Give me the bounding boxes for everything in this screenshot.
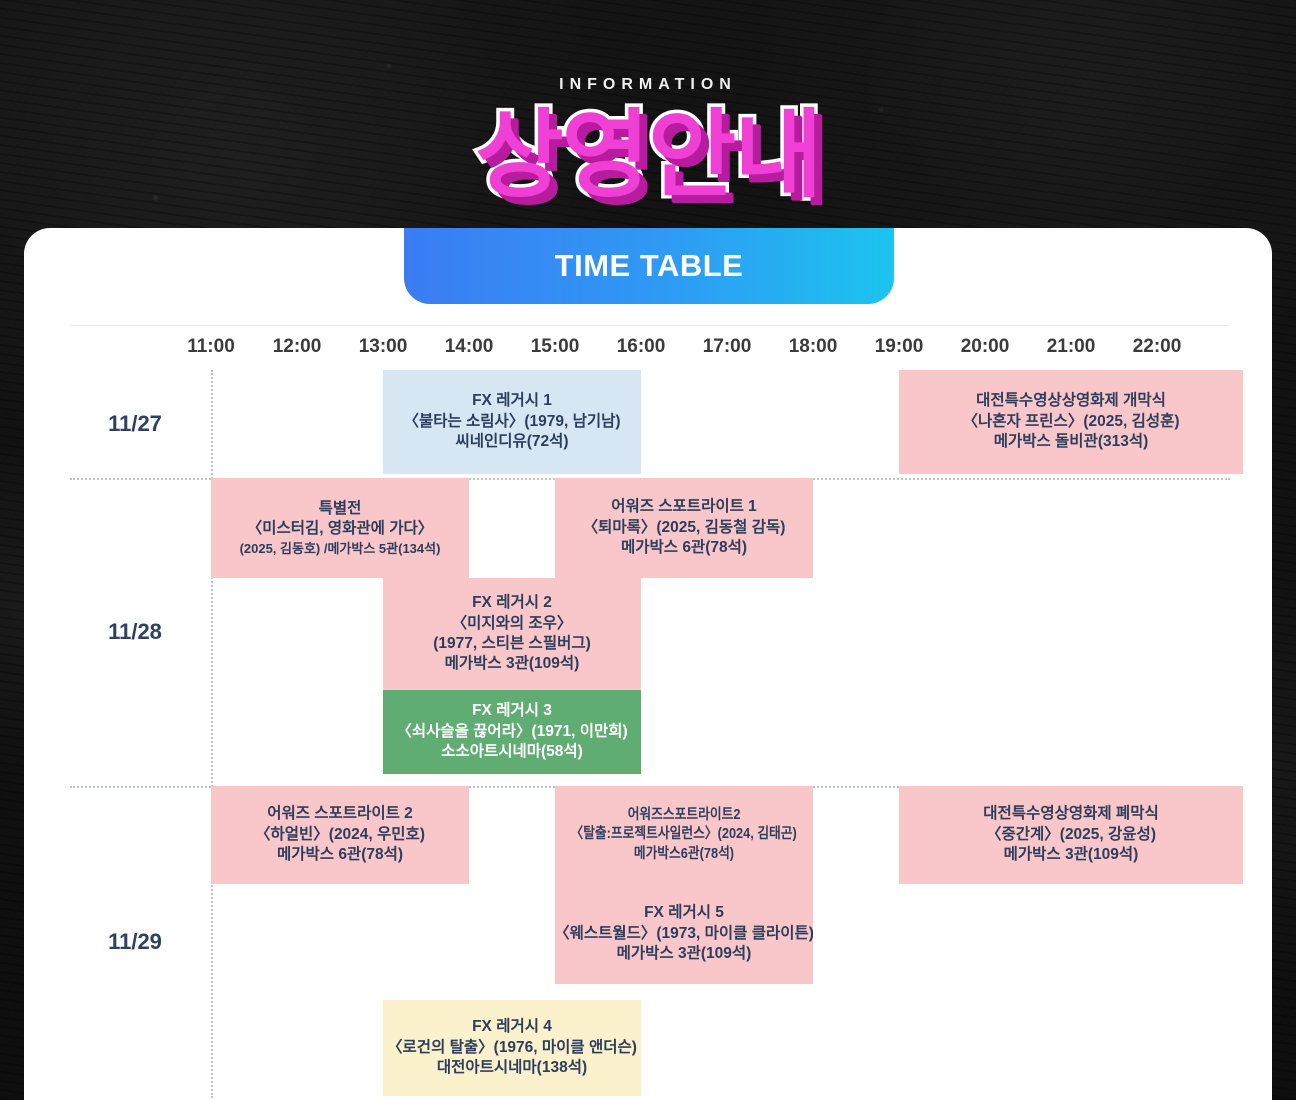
time-label-1500: 15:00 [531,336,580,358]
event-line: 대전아트시네마(138석) [437,1058,587,1078]
event-block-awards-spotlight-1[interactable]: 어워즈 스포트라이트 1〈퇴마록〉(2025, 김동철 감독)메가박스 6관(7… [555,478,813,578]
event-line: 메가박스 3관(109석) [617,944,752,964]
event-block-awards-spotlight-2b[interactable]: 어워즈스포트라이트2〈탈출:프로젝트사일런스〉(2024, 김태곤)메가박스6관… [555,786,813,884]
time-label-2000: 20:00 [961,336,1010,358]
event-block-fx-legacy-1[interactable]: FX 레거시 1〈불타는 소림사〉(1979, 남기남)씨네인디유(72석) [383,370,641,474]
event-line: 메가박스 6관(78석) [277,845,403,865]
time-label-1100: 11:00 [187,336,235,358]
event-line: 메가박스 돌비관(313석) [994,432,1149,452]
event-line: 〈탈출:프로젝트사일런스〉(2024, 김태곤) [571,825,797,844]
time-label-2200: 22:00 [1133,336,1182,358]
event-line: 〈미스터김, 영화관에 가다〉 [247,519,434,539]
page-title: 상영안내 [0,108,1296,204]
event-line: 메가박스 3관(109석) [445,654,580,674]
time-axis: 11:0012:0013:0014:0015:0016:0017:0018:00… [70,326,1230,370]
page-header: INFORMATION 상영안내 [0,0,1296,204]
event-line: 특별전 [319,499,362,519]
event-block-awards-spotlight-2a[interactable]: 어워즈 스포트라이트 2〈하얼빈〉(2024, 우민호)메가박스 6관(78석) [211,786,469,884]
event-line: 메가박스 6관(78석) [621,538,747,558]
event-block-opening-ceremony[interactable]: 대전특수영상상영화제 개막식〈나혼자 프린스〉(2025, 김성훈)메가박스 돌… [899,370,1243,474]
time-label-1300: 13:00 [359,336,408,358]
time-label-1600: 16:00 [617,336,666,358]
event-line: 〈하얼빈〉(2024, 우민호) [255,825,425,845]
event-line: FX 레거시 3 [472,701,552,721]
event-line: 어워즈스포트라이트2 [628,806,741,825]
event-line: 〈미지와의 조우〉 [452,614,573,634]
event-line: 대전특수영상영화제 폐막식 [983,804,1158,824]
time-label-2100: 21:00 [1047,336,1096,358]
timetable-card: TIME TABLE 11:0012:0013:0014:0015:0016:0… [24,228,1272,1100]
date-label-1129: 11/29 [70,929,200,955]
time-grid: 11:0012:0013:0014:0015:0016:0017:0018:00… [70,326,1230,1098]
event-block-closing-ceremony[interactable]: 대전특수영상영화제 폐막식〈중간계〉(2025, 강윤성)메가박스 3관(109… [899,786,1243,884]
event-block-fx-legacy-4[interactable]: FX 레거시 4〈로건의 탈출〉(1976, 마이클 앤더슨)대전아트시네마(1… [383,1000,641,1096]
event-line: (2025, 김동호) /메가박스 5관(134석) [240,540,441,557]
event-block-fx-legacy-3[interactable]: FX 레거시 3〈쇠사슬을 끊어라〉(1971, 이만희)소소아트시네마(58석… [383,690,641,774]
event-line: 〈불타는 소림사〉(1979, 남기남) [403,412,620,432]
event-block-fx-legacy-5[interactable]: FX 레거시 5〈웨스트월드〉(1973, 마이클 클라이튼)메가박스 3관(1… [555,884,813,984]
event-line: 대전특수영상상영화제 개막식 [976,391,1166,411]
event-line: 메가박스 3관(109석) [1004,845,1139,865]
event-line: 〈로건의 탈출〉(1976, 마이클 앤더슨) [387,1038,637,1058]
event-line: FX 레거시 5 [644,903,724,923]
date-label-1128: 11/28 [70,619,200,645]
event-line: 〈쇠사슬을 끊어라〉(1971, 이만희) [396,722,627,742]
event-block-special-screening[interactable]: 특별전〈미스터김, 영화관에 가다〉(2025, 김동호) /메가박스 5관(1… [211,478,469,578]
time-label-1700: 17:00 [703,336,752,358]
time-label-1200: 12:00 [273,336,322,358]
event-line: 어워즈 스포트라이트 2 [267,804,413,824]
event-line: 〈나혼자 프린스〉(2025, 김성훈) [962,412,1179,432]
eyebrow-label: INFORMATION [0,76,1296,94]
time-label-1900: 19:00 [875,336,924,358]
date-label-1127: 11/27 [70,411,200,437]
event-line: 〈중간계〉(2025, 강윤성) [986,825,1156,845]
event-line: 소소아트시네마(58석) [441,742,583,762]
event-line: 〈퇴마록〉(2025, 김동철 감독) [583,518,786,538]
event-line: FX 레거시 1 [472,391,552,411]
time-label-1400: 14:00 [445,336,494,358]
event-line: (1977, 스티븐 스필버그) [433,634,591,654]
time-label-1800: 18:00 [789,336,838,358]
event-line: 메가박스6관(78석) [634,845,734,864]
event-line: 씨네인디유(72석) [455,432,568,452]
event-line: 〈웨스트월드〉(1973, 마이클 클라이튼) [555,924,813,944]
time-table-banner: TIME TABLE [404,228,894,304]
event-line: FX 레거시 2 [472,593,552,613]
event-block-fx-legacy-2[interactable]: FX 레거시 2〈미지와의 조우〉(1977, 스티븐 스필버그)메가박스 3관… [383,578,641,690]
event-line: 어워즈 스포트라이트 1 [611,497,757,517]
event-line: FX 레거시 4 [472,1017,552,1037]
